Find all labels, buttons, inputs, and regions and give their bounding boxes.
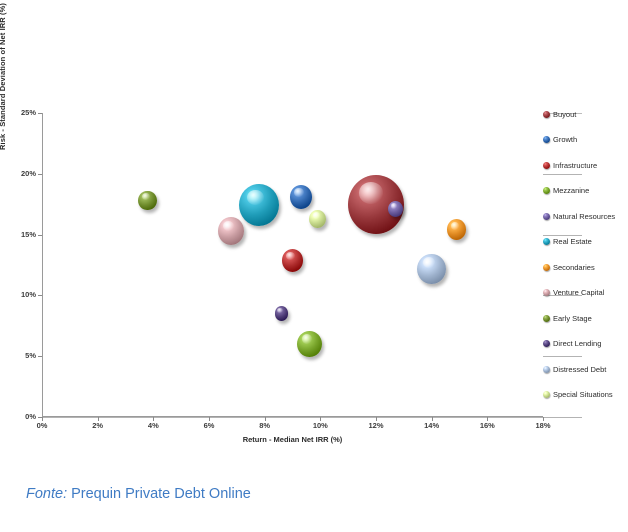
y-tick-mark: [38, 113, 42, 114]
bubble-highlight: [277, 308, 283, 313]
y-tick-mark: [38, 235, 42, 236]
source-name: Prequin Private Debt Online: [71, 486, 251, 502]
x-tick-label: 0%: [22, 421, 62, 430]
legend-swatch-icon: [543, 391, 550, 398]
y-tick-label: 0%: [6, 413, 36, 421]
x-tick-label: 16%: [467, 421, 507, 430]
x-tick-mark: [265, 417, 266, 421]
x-tick-label: 14%: [412, 421, 452, 430]
bubble-highlight: [286, 252, 295, 260]
x-tick-mark: [42, 417, 43, 421]
y-axis-title: Risk - Standard Deviation of Net IRR (%): [0, 3, 7, 150]
legend-swatch-icon: [543, 264, 550, 271]
x-tick-mark: [487, 417, 488, 421]
x-tick-label: 4%: [133, 421, 173, 430]
bubble-highlight: [142, 193, 150, 200]
legend-label: Secondaries: [553, 263, 595, 272]
legend-swatch-icon: [543, 366, 550, 373]
legend-label: Direct Lending: [553, 339, 601, 348]
gridline: [42, 417, 582, 418]
bubble-highlight: [302, 334, 313, 344]
y-tick-label: 10%: [6, 291, 36, 299]
legend-label: Growth: [553, 135, 577, 144]
bubble-highlight: [313, 212, 320, 218]
legend-label: Mezzanine: [553, 186, 589, 195]
legend-item-mezzanine[interactable]: Mezzanine: [543, 185, 589, 197]
bubble-highlight: [391, 203, 398, 209]
bubble-highlight: [223, 221, 234, 231]
legend-label: Infrastructure: [553, 161, 597, 170]
chart-legend: BuyoutGrowthInfrastructureMezzanineNatur…: [543, 108, 628, 418]
y-tick-mark: [38, 295, 42, 296]
y-tick-label: 20%: [6, 170, 36, 178]
legend-label: Distressed Debt: [553, 365, 606, 374]
bubble-infrastructure: [282, 249, 304, 272]
legend-label: Real Estate: [553, 237, 592, 246]
legend-item-infrastructure[interactable]: Infrastructure: [543, 159, 597, 171]
source-prefix: Fonte:: [26, 486, 67, 502]
legend-item-distressed-debt[interactable]: Distressed Debt: [543, 363, 606, 375]
legend-label: Venture Capital: [553, 288, 604, 297]
bubble-highlight: [247, 190, 264, 205]
bubble-highlight: [451, 222, 459, 229]
bubble-venture-capital: [218, 217, 244, 245]
bubble-highlight: [294, 188, 303, 197]
x-tick-label: 8%: [245, 421, 285, 430]
x-axis-title: Return - Median Net IRR (%): [42, 435, 543, 444]
legend-swatch-icon: [543, 238, 550, 245]
bubble-special-situations: [309, 210, 326, 228]
source-caption: Fonte:Prequin Private Debt Online: [26, 486, 251, 502]
bubble-direct-lending: [275, 306, 289, 321]
y-tick-mark: [38, 356, 42, 357]
x-tick-label: 12%: [356, 421, 396, 430]
legend-swatch-icon: [543, 187, 550, 194]
legend-item-real-estate[interactable]: Real Estate: [543, 236, 592, 248]
x-tick-mark: [376, 417, 377, 421]
legend-label: Natural Resources: [553, 212, 615, 221]
x-tick-label: 6%: [189, 421, 229, 430]
legend-item-special-situations[interactable]: Special Situations: [543, 389, 613, 401]
x-tick-mark: [209, 417, 210, 421]
legend-item-natural-resources[interactable]: Natural Resources: [543, 210, 615, 222]
legend-swatch-icon: [543, 111, 550, 118]
y-tick-label: 5%: [6, 352, 36, 360]
legend-swatch-icon: [543, 162, 550, 169]
legend-item-early-stage[interactable]: Early Stage: [543, 312, 592, 324]
x-tick-mark: [98, 417, 99, 421]
x-tick-label: 10%: [300, 421, 340, 430]
x-tick-mark: [320, 417, 321, 421]
y-tick-label: 15%: [6, 231, 36, 239]
legend-item-direct-lending[interactable]: Direct Lending: [543, 338, 601, 350]
legend-label: Buyout: [553, 110, 576, 119]
x-tick-mark: [432, 417, 433, 421]
y-tick-mark: [38, 174, 42, 175]
x-tick-label: 2%: [78, 421, 118, 430]
legend-item-buyout[interactable]: Buyout: [543, 108, 576, 120]
legend-label: Special Situations: [553, 390, 613, 399]
x-tick-mark: [153, 417, 154, 421]
legend-swatch-icon: [543, 289, 550, 296]
legend-swatch-icon: [543, 315, 550, 322]
bubble-highlight: [423, 257, 435, 268]
bubble-mezzanine: [297, 331, 322, 358]
bubble-highlight: [359, 182, 383, 203]
x-tick-label: 18%: [523, 421, 563, 430]
bubble-chart-figure: 0%5%10%15%20%25% Risk - Standard Deviati…: [0, 0, 628, 532]
legend-item-venture-capital[interactable]: Venture Capital: [543, 287, 604, 299]
bubble-real-estate: [239, 184, 279, 226]
legend-swatch-icon: [543, 340, 550, 347]
bubble-distressed-debt: [417, 254, 446, 284]
y-tick-label: 25%: [6, 109, 36, 117]
legend-swatch-icon: [543, 136, 550, 143]
legend-item-growth[interactable]: Growth: [543, 134, 577, 146]
bubble-growth: [290, 185, 312, 209]
legend-label: Early Stage: [553, 314, 592, 323]
legend-item-secondaries[interactable]: Secondaries: [543, 261, 595, 273]
legend-swatch-icon: [543, 213, 550, 220]
